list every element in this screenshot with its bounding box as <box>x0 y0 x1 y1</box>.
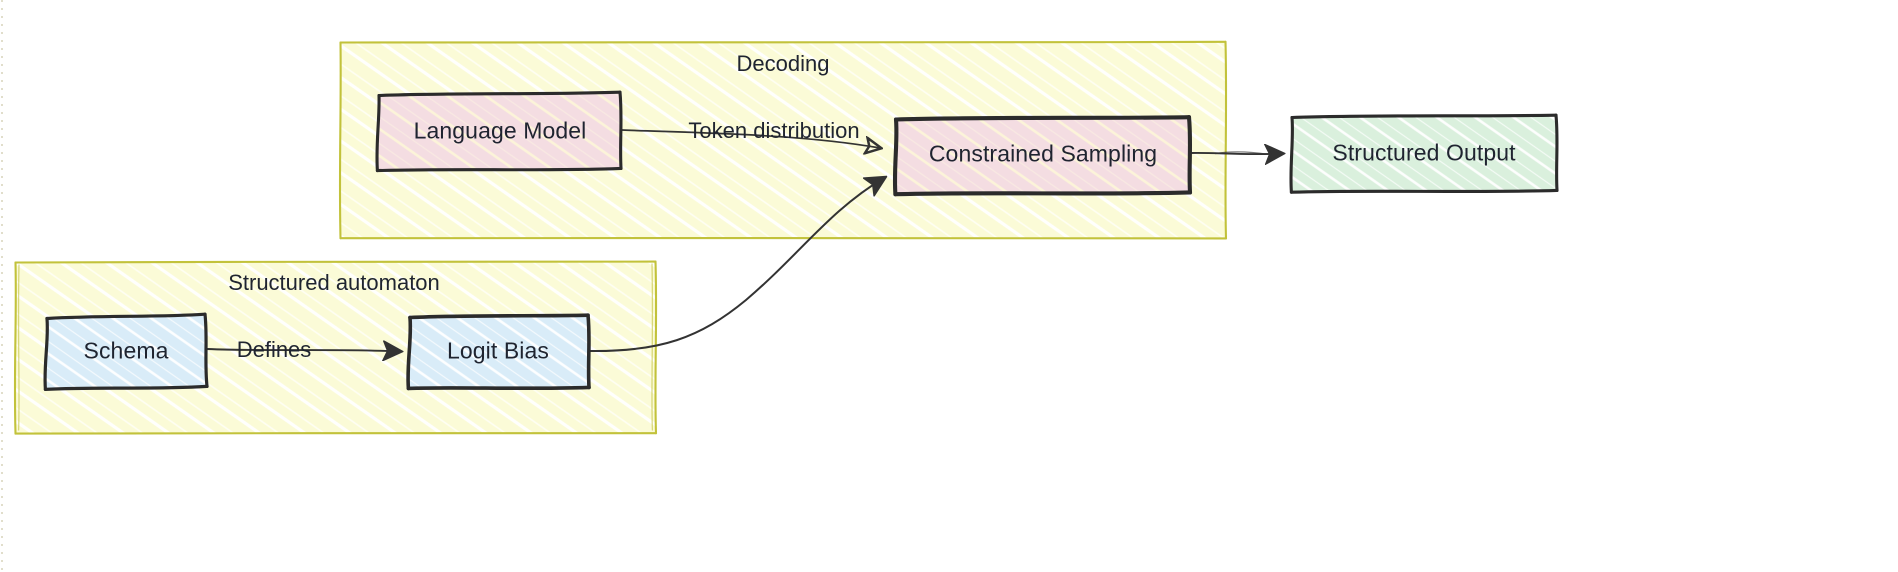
diagram-vector-layer <box>0 0 1898 572</box>
diagram-canvas: Decoding Structured automaton Language M… <box>0 0 1898 572</box>
node-constrained-sampling[interactable] <box>895 117 1190 195</box>
node-schema[interactable] <box>45 314 207 391</box>
node-structured-output[interactable] <box>1291 115 1557 193</box>
node-language-model[interactable] <box>377 92 621 172</box>
node-logit-bias[interactable] <box>408 315 589 389</box>
